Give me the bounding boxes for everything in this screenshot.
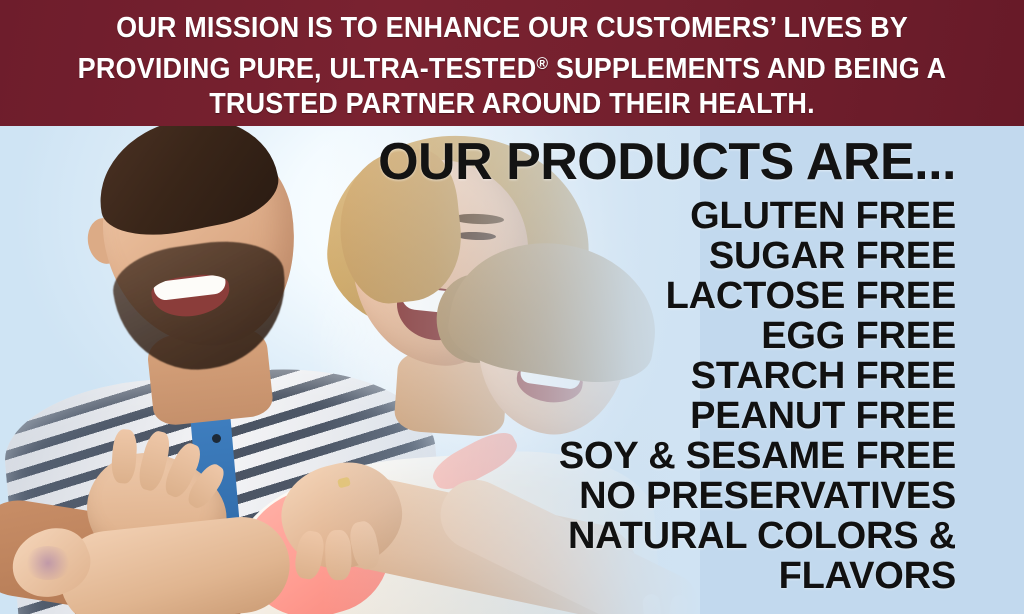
- product-claim-item: EGG FREE: [300, 316, 956, 356]
- mission-line-2-before-mark: PROVIDING PURE, ULTRA-TESTED: [78, 53, 537, 85]
- products-claims-block: OUR PRODUCTS ARE... GLUTEN FREESUGAR FRE…: [300, 134, 956, 596]
- skin-mark: [24, 546, 72, 580]
- products-claim-list: GLUTEN FREESUGAR FREELACTOSE FREEEGG FRE…: [300, 196, 956, 596]
- mission-statement-band: OUR MISSION IS TO ENHANCE OUR CUSTOMERS’…: [0, 0, 1024, 126]
- product-claim-item: NATURAL COLORS &: [300, 516, 956, 556]
- product-claim-item: LACTOSE FREE: [300, 276, 956, 316]
- mission-line-1: OUR MISSION IS TO ENHANCE OUR CUSTOMERS’…: [116, 12, 908, 44]
- finger: [110, 429, 138, 485]
- product-claim-item: SUGAR FREE: [300, 236, 956, 276]
- product-claim-item: NO PRESERVATIVES: [300, 476, 956, 516]
- shirt-button: [212, 434, 221, 443]
- product-claim-item: PEANUT FREE: [300, 396, 956, 436]
- product-claim-item: SOY & SESAME FREE: [300, 436, 956, 476]
- products-heading: OUR PRODUCTS ARE...: [300, 134, 956, 190]
- product-claim-item: GLUTEN FREE: [300, 196, 956, 236]
- product-claim-item: STARCH FREE: [300, 356, 956, 396]
- marketing-banner: OUR MISSION IS TO ENHANCE OUR CUSTOMERS’…: [0, 0, 1024, 614]
- mission-line-3: TRUSTED PARTNER AROUND THEIR HEALTH.: [209, 88, 815, 120]
- mission-statement-text: OUR MISSION IS TO ENHANCE OUR CUSTOMERS’…: [36, 11, 988, 122]
- registered-trademark-icon: ®: [536, 54, 548, 73]
- product-claim-item: FLAVORS: [300, 556, 956, 596]
- mission-line-2-after-mark: SUPPLEMENTS AND BEING A: [548, 53, 946, 85]
